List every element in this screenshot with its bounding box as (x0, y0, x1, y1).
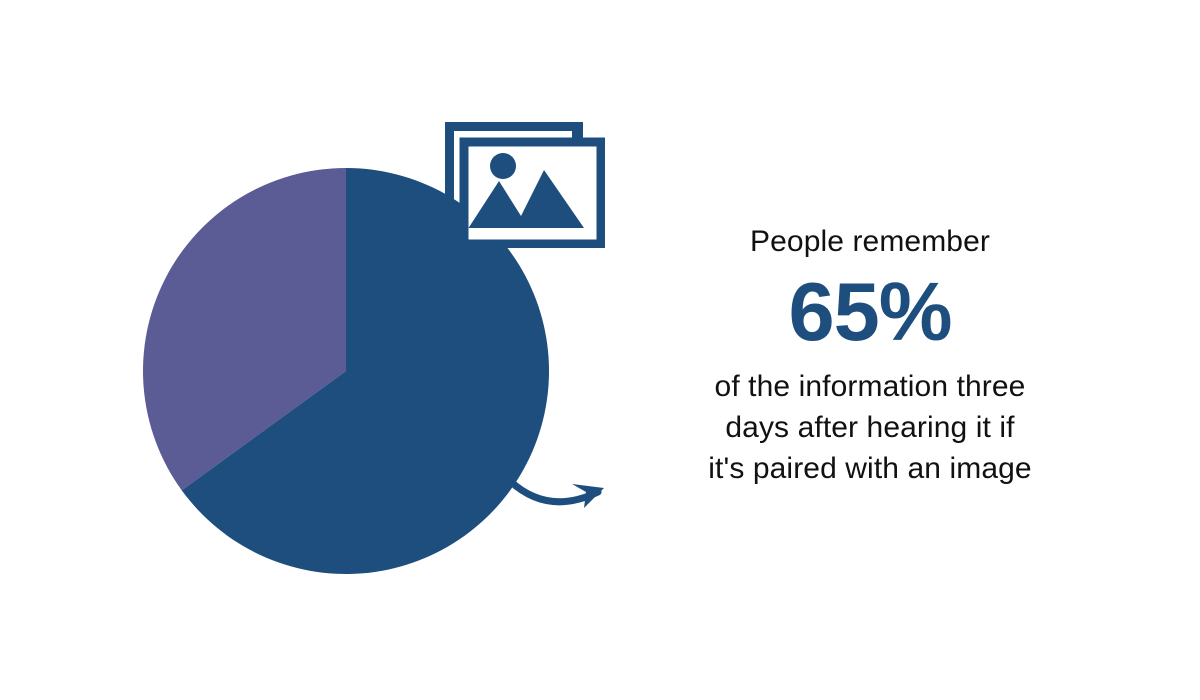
arrow-head (572, 484, 604, 508)
image-stack-icon (441, 118, 605, 248)
image-stack-icon-svg (441, 118, 605, 248)
statistic-lead-text: People remember (660, 222, 1080, 262)
infographic-canvas: People remember 65% of the information t… (0, 0, 1200, 700)
sun-icon (490, 153, 516, 179)
curved-arrow-icon (500, 468, 618, 518)
arrow-shaft (510, 481, 598, 502)
photo-frame-bottom-edge (469, 228, 597, 240)
statistic-text: People remember 65% of the information t… (660, 222, 1080, 489)
statistic-detail-line-2: days after hearing it if (660, 407, 1080, 448)
statistic-detail-text: of the information three days after hear… (660, 366, 1080, 489)
statistic-value: 65% (660, 264, 1080, 360)
curved-arrow-svg (500, 468, 618, 518)
statistic-detail-line-1: of the information three (660, 366, 1080, 407)
statistic-detail-line-3: it's paired with an image (660, 448, 1080, 489)
